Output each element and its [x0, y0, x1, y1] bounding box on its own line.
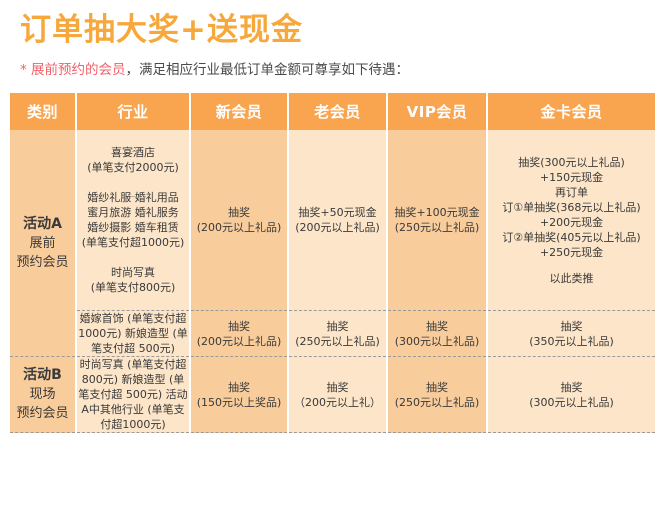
benefit-line: 抽奖(300元以上礼品)	[488, 155, 655, 170]
benefit-cell-a2-gold: 抽奖 (350元以上礼品)	[487, 311, 655, 357]
benefit-cell-a1-vip: 抽奖+100元现金 (250元以上礼品)	[387, 130, 487, 311]
benefit-line: +250元现金	[488, 245, 655, 260]
industry-cell-b1: 时尚写真 (单笔支付超 800元) 新娘造型 (单笔支付超 500元) 活动A中…	[76, 357, 190, 433]
promo-table-page: 订单抽大奖+送现金 * 展前预约的会员，满足相应行业最低订单金额可尊享如下待遇：…	[0, 0, 665, 516]
table-bottom-separator	[10, 433, 655, 434]
benefits-table: 类别 行业 新会员 老会员 VIP会员 金卡会员 活动A 展前 预约会员	[10, 93, 655, 433]
benefit-line: 抽奖	[289, 380, 386, 395]
category-sub2-a: 预约会员	[10, 253, 75, 272]
benefit-cell-a2-vip: 抽奖 (300元以上礼品)	[387, 311, 487, 357]
industry-cell-a1: 喜宴酒店 (单笔支付2000元) 婚纱礼服 婚礼用品 蜜月旅游 婚礼服务 婚纱摄…	[76, 130, 190, 311]
industry-line: 喜宴酒店	[77, 145, 189, 160]
industry-line: 婚纱摄影 婚车租赁	[77, 220, 189, 235]
benefit-cell-b1-vip: 抽奖 (250元以上礼品)	[387, 357, 487, 433]
benefit-line: (350元以上礼品)	[488, 334, 655, 349]
category-sub2-b: 预约会员	[10, 404, 75, 423]
benefit-line: 抽奖	[488, 380, 655, 395]
category-sub1-a: 展前	[10, 234, 75, 253]
benefit-spacer	[488, 260, 655, 271]
benefit-line: (250元以上礼品)	[388, 220, 486, 235]
benefit-line: 订①单抽奖(368元以上礼品)	[488, 200, 655, 215]
benefit-line: 抽奖+50元现金	[289, 205, 386, 220]
activity-b-row-1: 活动B 现场 预约会员 时尚写真 (单笔支付超 800元) 新娘造型 (单笔支付…	[10, 357, 655, 433]
subtitle-rest: ，满足相应行业最低订单金额可尊享如下待遇：	[126, 62, 410, 78]
separator-segment	[487, 433, 655, 434]
benefit-line: 订②单抽奖(405元以上礼品)	[488, 230, 655, 245]
benefit-line: 以此类推	[488, 271, 655, 286]
benefit-cell-b1-new: 抽奖 (150元以上奖品)	[190, 357, 288, 433]
benefit-line: (250元以上礼品)	[388, 395, 486, 410]
activity-a-row-1: 活动A 展前 预约会员 喜宴酒店 (单笔支付2000元) 婚纱礼服 婚礼用品	[10, 130, 655, 311]
column-header-new-member: 新会员	[190, 93, 288, 130]
subtitle-highlight: * 展前预约的会员	[20, 62, 126, 78]
benefit-line: （200元以上礼）	[289, 395, 386, 410]
benefit-line: +200元现金	[488, 215, 655, 230]
benefit-line: 抽奖	[388, 319, 486, 334]
benefit-cell-a1-old: 抽奖+50元现金 (200元以上礼品)	[288, 130, 387, 311]
benefit-line: 抽奖	[191, 319, 287, 334]
industry-line: 时尚写真	[77, 265, 189, 280]
separator-segment	[76, 433, 190, 434]
column-header-category: 类别	[10, 93, 76, 130]
industry-line: 时尚写真	[80, 358, 124, 371]
benefit-line: (200元以上礼品)	[191, 334, 287, 349]
table-header-row: 类别 行业 新会员 老会员 VIP会员 金卡会员	[10, 93, 655, 130]
benefit-line: (300元以上礼品)	[388, 334, 486, 349]
category-sub1-b: 现场	[10, 385, 75, 404]
industry-line: 新娘造型	[125, 327, 169, 340]
benefit-line: 抽奖	[191, 380, 287, 395]
activity-a-row-2: 婚嫁首饰 (单笔支付超1000元) 新娘造型 (单笔支付超 500元) 抽奖 (…	[10, 311, 655, 357]
benefit-line: 抽奖+100元现金	[388, 205, 486, 220]
industry-line: 婚纱礼服 婚礼用品	[77, 190, 189, 205]
benefit-cell-a2-old: 抽奖 (250元以上礼品)	[288, 311, 387, 357]
column-header-vip-member: VIP会员	[387, 93, 487, 130]
benefit-cell-b1-gold: 抽奖 (300元以上礼品)	[487, 357, 655, 433]
benefit-line: +150元现金	[488, 170, 655, 185]
industry-line: 婚嫁首饰	[80, 312, 124, 325]
benefit-cell-b1-old: 抽奖 （200元以上礼）	[288, 357, 387, 433]
benefit-line: 抽奖	[289, 319, 386, 334]
category-cell-activity-b: 活动B 现场 预约会员	[10, 357, 76, 433]
industry-cell-a2: 婚嫁首饰 (单笔支付超1000元) 新娘造型 (单笔支付超 500元)	[76, 311, 190, 357]
benefit-cell-a2-new: 抽奖 (200元以上礼品)	[190, 311, 288, 357]
column-header-old-member: 老会员	[288, 93, 387, 130]
page-subtitle: * 展前预约的会员，满足相应行业最低订单金额可尊享如下待遇：	[20, 60, 409, 80]
benefit-cell-a1-new: 抽奖 (200元以上礼品)	[190, 130, 288, 311]
industry-line: (单笔支付800元)	[77, 280, 189, 295]
benefit-line: 抽奖	[191, 205, 287, 220]
industry-line: 新娘造型	[122, 373, 166, 386]
industry-block: 时尚写真 (单笔支付800元)	[77, 244, 189, 316]
benefit-line: (200元以上礼品)	[289, 220, 386, 235]
benefit-cell-a1-gold: 抽奖(300元以上礼品) +150元现金 再订单 订①单抽奖(368元以上礼品)…	[487, 130, 655, 311]
separator-segment	[288, 433, 387, 434]
benefit-line: (300元以上礼品)	[488, 395, 655, 410]
industry-stack-a1: 喜宴酒店 (单笔支付2000元) 婚纱礼服 婚礼用品 蜜月旅游 婚礼服务 婚纱摄…	[77, 130, 189, 310]
benefit-line: 抽奖	[388, 380, 486, 395]
industry-line: 蜜月旅游 婚礼服务	[77, 205, 189, 220]
page-title: 订单抽大奖+送现金	[20, 10, 303, 50]
benefit-line: (150元以上奖品)	[191, 395, 287, 410]
category-cell-activity-a: 活动A 展前 预约会员	[10, 130, 76, 357]
separator-segment	[387, 433, 487, 434]
separator-segment	[190, 433, 288, 434]
category-name-b: 活动B	[10, 366, 75, 385]
benefit-line: (250元以上礼品)	[289, 334, 386, 349]
benefits-table-wrapper: 类别 行业 新会员 老会员 VIP会员 金卡会员 活动A 展前 预约会员	[10, 93, 655, 433]
category-name-a: 活动A	[10, 215, 75, 234]
separator-segment	[10, 433, 76, 434]
column-header-gold-member: 金卡会员	[487, 93, 655, 130]
benefit-line: (200元以上礼品)	[191, 220, 287, 235]
benefit-line: 抽奖	[488, 319, 655, 334]
benefit-line: 再订单	[488, 185, 655, 200]
